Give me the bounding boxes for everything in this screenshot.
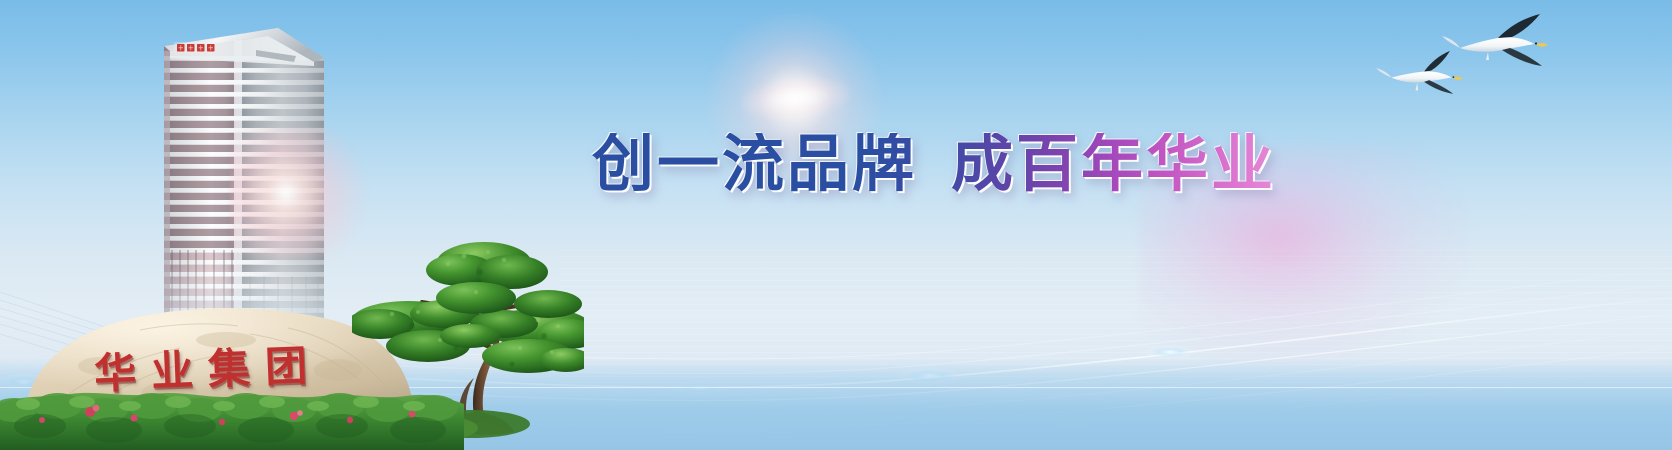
flying-seagulls-icon bbox=[1370, 8, 1560, 118]
green-hedge bbox=[0, 382, 464, 450]
slogan-part-1: 创一流品牌 bbox=[592, 127, 917, 200]
hero-slogan: 创一流品牌成百年华业 bbox=[592, 133, 1276, 195]
seagull-lower bbox=[1376, 51, 1463, 94]
rooftop-company-sign bbox=[174, 42, 218, 53]
company-hero-banner: 华业集团 bbox=[0, 0, 1672, 450]
slogan-part-2: 成百年华业 bbox=[951, 127, 1276, 200]
seagull-upper bbox=[1442, 14, 1548, 66]
